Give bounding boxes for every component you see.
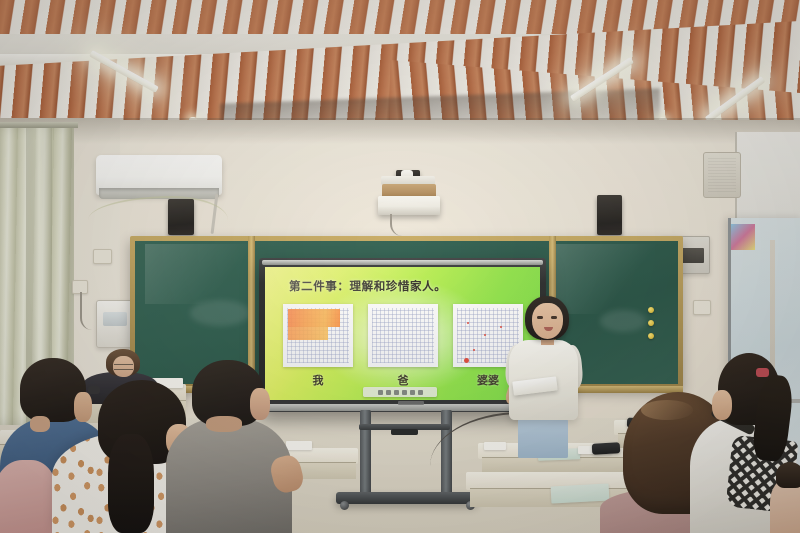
glasses-icon <box>114 364 133 370</box>
more-icon[interactable] <box>418 390 423 395</box>
grid-chart-dad <box>368 304 438 367</box>
wall-top-shadow <box>0 118 800 144</box>
stand-control-box[interactable] <box>391 429 418 435</box>
display-top-strip <box>262 260 543 265</box>
slide-label-dad: 爸 <box>368 372 438 388</box>
hair-tie <box>756 368 769 377</box>
chalk-smudge-1 <box>190 300 250 326</box>
pen-icon[interactable] <box>378 390 383 395</box>
chart-mark-1 <box>467 322 469 324</box>
white-top-face <box>712 390 732 420</box>
curtain-rod <box>0 122 78 128</box>
redo-icon[interactable] <box>410 390 415 395</box>
presenter-mouth <box>544 327 553 331</box>
gray-shirt-neck <box>206 416 242 432</box>
pink-top-torso <box>0 460 56 533</box>
chart-mark-3 <box>500 326 502 328</box>
slide-title: 第二件事：理解和珍惜家人。 <box>289 278 446 294</box>
floral-blouse-ponytail <box>108 434 154 533</box>
chart-mark-5 <box>464 358 469 363</box>
presentation-slide[interactable]: 第二件事：理解和珍惜家人。 我 爸 婆婆 <box>265 267 540 400</box>
presenter-eye-right <box>551 316 557 319</box>
display-stand-leg-left <box>360 410 371 496</box>
slide-label-row: 我 爸 婆婆 <box>283 372 523 388</box>
slide-image-row <box>283 304 523 367</box>
power-cord <box>80 292 96 330</box>
chart-heat-band-1 <box>288 309 340 327</box>
display-bottom-strip <box>263 404 543 411</box>
chart-mark-4 <box>473 349 475 351</box>
classroom-photo: 第二件事：理解和珍惜家人。 我 爸 婆婆 <box>0 0 800 533</box>
undo-icon[interactable] <box>402 390 407 395</box>
wall-speaker-left <box>168 199 194 235</box>
shape-icon[interactable] <box>394 390 399 395</box>
dispenser-panel <box>103 312 127 326</box>
notebook-2[interactable] <box>551 483 610 503</box>
display-stand-base <box>336 492 477 504</box>
chart-mark-2 <box>484 334 486 336</box>
mobile-phone-1[interactable] <box>592 442 621 454</box>
chart-grid-2 <box>372 308 434 363</box>
paper-stack-2[interactable] <box>484 442 506 450</box>
blue-shirt-neck <box>30 416 50 432</box>
blue-shirt-ear-cheek <box>74 392 92 422</box>
caster-left <box>340 501 349 510</box>
far-right-hair <box>776 462 800 488</box>
eraser-icon[interactable] <box>386 390 391 395</box>
display-brand-logo <box>398 401 424 405</box>
presenter-jeans <box>518 418 568 458</box>
paper-stack-4[interactable] <box>286 441 312 450</box>
door-sticker <box>731 224 755 250</box>
magnet-3[interactable] <box>648 333 654 339</box>
magnet-1[interactable] <box>648 307 654 313</box>
wall-outlet-1[interactable] <box>93 249 112 264</box>
gray-shirt-ear-cheek <box>250 388 270 420</box>
seated-woman-watch <box>88 386 100 394</box>
presenter-face <box>532 303 563 339</box>
presenter-eye-left <box>537 316 543 319</box>
projector <box>378 196 440 215</box>
magnet-2[interactable] <box>648 320 654 326</box>
wall-speaker-right <box>597 195 622 235</box>
grid-chart-me <box>283 304 353 367</box>
wall-outlet-3[interactable] <box>693 300 711 315</box>
slide-toolbar[interactable] <box>363 387 437 397</box>
brown-hair-highlight <box>641 400 693 420</box>
wall-speaker-upper-right <box>703 152 741 198</box>
chart-heat-band-2 <box>288 327 328 340</box>
slide-label-me: 我 <box>283 372 353 388</box>
chalk-smudge-2 <box>600 310 646 332</box>
